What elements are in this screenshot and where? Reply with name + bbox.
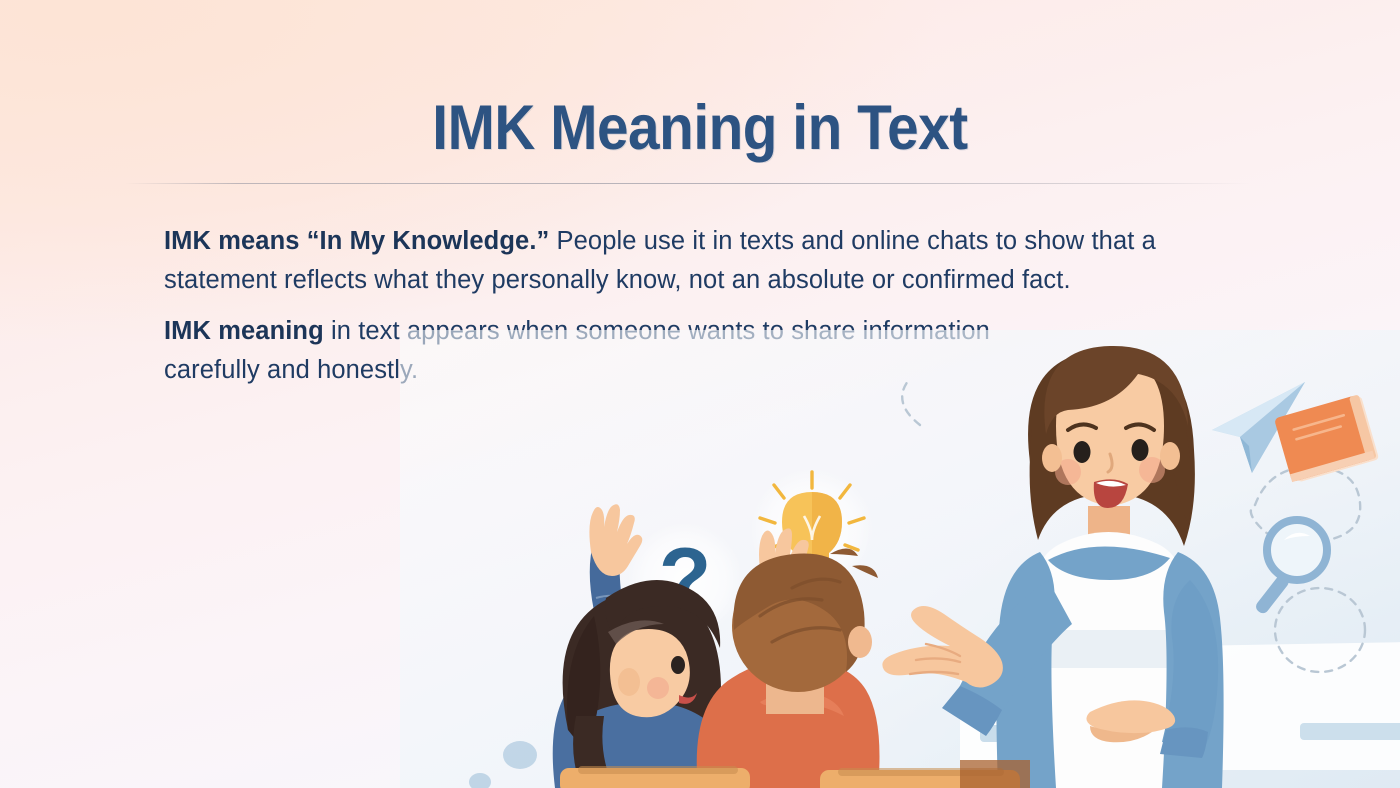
- classroom-illustration: ?: [400, 330, 1400, 788]
- paragraph-2-bold: IMK meaning: [164, 317, 324, 345]
- illustration-svg: ?: [400, 330, 1400, 788]
- paragraph-1-bold: IMK means “In My Knowledge.”: [164, 227, 549, 255]
- slide-canvas: IMK Meaning in Text IMK means “In My Kno…: [0, 0, 1400, 788]
- girl-eye: [671, 656, 685, 674]
- title-divider: [125, 183, 1250, 184]
- paragraph-1: IMK means “In My Knowledge.” People use …: [164, 222, 1184, 299]
- page-title: IMK Meaning in Text: [70, 92, 1330, 164]
- teacher-eye-right: [1132, 439, 1149, 461]
- teacher-eye-left: [1074, 441, 1091, 463]
